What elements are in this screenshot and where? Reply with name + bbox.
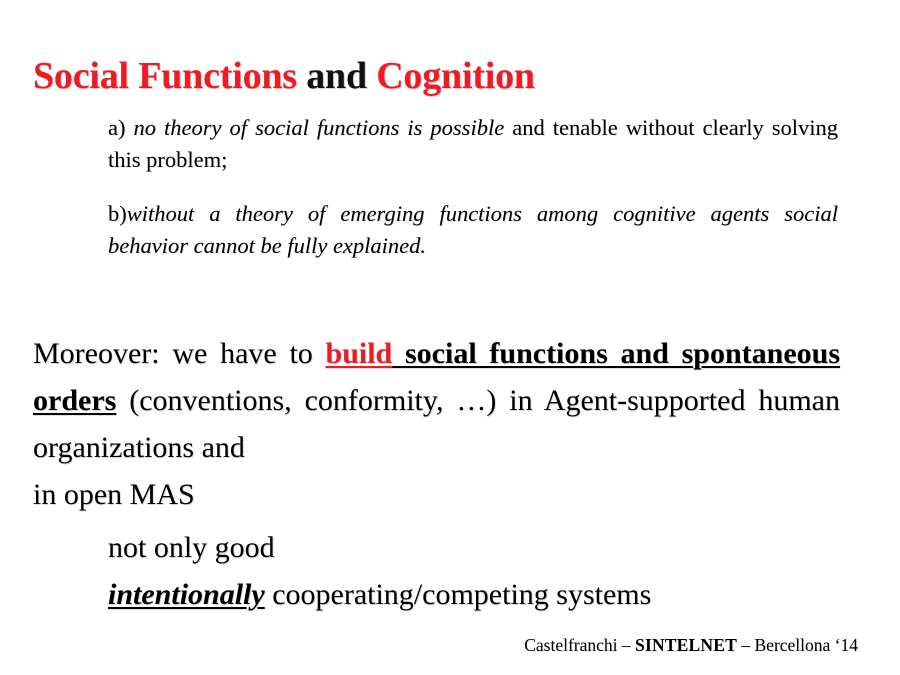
bullet-item-a: a) no theory of social functions is poss… [108, 112, 838, 176]
footer-project: SINTELNET [635, 635, 737, 655]
closing-line-rest: cooperating/competing systems [265, 578, 652, 611]
title-part-cognition: Cognition [376, 55, 535, 97]
page-title: Social Functions and Cognition [33, 53, 873, 99]
main-tail-line: in open MAS [33, 471, 840, 518]
footer-venue: – Bercellona ‘14 [737, 635, 858, 655]
closing-line-intentionally: intentionally cooperating/competing syst… [108, 571, 868, 618]
slide-footer: Castelfranchi – SINTELNET – Bercellona ‘… [0, 634, 858, 656]
emphasis-intentionally: intentionally [108, 578, 265, 611]
main-after-highlight-text: (conventions, conformity, …) in Agent-su… [33, 384, 840, 464]
bullet-a-italic-text: no theory of social functions is possibl… [134, 115, 505, 140]
bullet-a-marker: a) [108, 115, 134, 140]
highlight-build: build [326, 337, 393, 370]
title-part-and: and [297, 55, 376, 97]
bullet-b-italic-text: without a theory of emerging functions a… [108, 201, 838, 258]
highlight-separator-space [392, 337, 405, 370]
main-lead-text: Moreover: we have to [33, 337, 326, 370]
main-statement: Moreover: we have to build social functi… [33, 330, 840, 518]
footer-author: Castelfranchi – [524, 635, 635, 655]
indented-closing-lines: not only good intentionally cooperating/… [108, 524, 868, 618]
bullet-b-marker: b) [108, 201, 127, 226]
bullet-item-b: b)without a theory of emerging functions… [108, 198, 838, 262]
title-part-social-functions: Social Functions [33, 55, 297, 97]
bullet-list: a) no theory of social functions is poss… [108, 112, 838, 262]
slide-canvas: Social Functions and Cognition a) no the… [0, 0, 900, 675]
closing-line-not-only-good: not only good [108, 524, 868, 571]
